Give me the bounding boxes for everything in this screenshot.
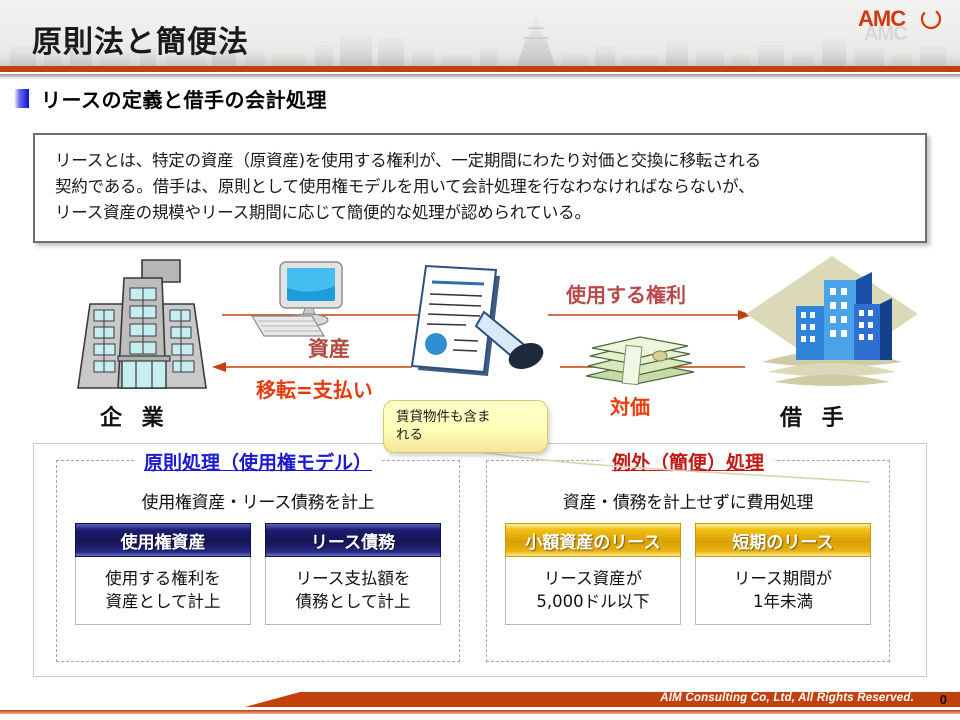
exception-cards: 小額資産のリース リース資産が 5,000ドル以下 短期のリース リース期間が … — [505, 523, 871, 625]
card-short-term-lease: 短期のリース リース期間が 1年未満 — [695, 523, 871, 625]
footer-accent-rule — [0, 710, 960, 714]
blue-square-bullet-icon — [14, 89, 29, 108]
card-body-right-of-use-asset: 使用する権利を 資産として計上 — [75, 557, 251, 625]
card-body-line-1: リース支払額を — [296, 568, 411, 590]
page-title: 原則法と簡便法 — [32, 17, 249, 61]
card-body-line-2: 1年未満 — [753, 591, 813, 613]
panel-subtitle-principle: 使用権資産・リース債務を計上 — [57, 488, 459, 513]
slide-footer: AIM Consulting Co, Ltd, All Rights Reser… — [0, 692, 960, 720]
flow-label-asset: 資産 — [308, 333, 350, 363]
cash-bundle-icon — [580, 332, 700, 394]
callout-line-2: れる — [396, 426, 547, 444]
header-accent-bar — [0, 66, 960, 72]
footer-page-number: 0 — [940, 692, 947, 707]
svg-text:AMC: AMC — [864, 23, 907, 44]
contract-signing-icon — [396, 252, 556, 402]
callout-bubble: 賃貸物件も含ま れる — [383, 400, 548, 453]
card-body-low-value-asset-lease: リース資産が 5,000ドル以下 — [505, 557, 681, 625]
amc-logo-icon: AMC AMC — [856, 4, 948, 44]
card-head-right-of-use-asset: 使用権資産 — [75, 523, 251, 557]
section-heading-label: リースの定義と借手の会計処理 — [41, 84, 327, 113]
definition-box: リースとは、特定の資産（原資産)を使用する権利が、一定期間にわたり対価と交換に移… — [33, 133, 927, 243]
callout-line-1: 賃貸物件も含ま — [396, 408, 547, 426]
definition-line-2: 契約である。借手は、原則として使用権モデルを用いて会計処理を行なわなければならな… — [55, 174, 907, 200]
footer-copyright: AIM Consulting Co, Ltd, All Rights Reser… — [660, 692, 914, 704]
card-low-value-asset-lease: 小額資産のリース リース資産が 5,000ドル以下 — [505, 523, 681, 625]
card-body-line-2: 資産として計上 — [105, 591, 220, 613]
card-head-short-term-lease: 短期のリース — [695, 523, 871, 557]
card-body-short-term-lease: リース期間が 1年未満 — [695, 557, 871, 625]
card-body-line-2: 債務として計上 — [295, 591, 410, 613]
card-head-low-value-asset-lease: 小額資産のリース — [505, 523, 681, 557]
card-body-line-1: 使用する権利を — [105, 568, 221, 590]
card-right-of-use-asset: 使用権資産 使用する権利を 資産として計上 — [75, 523, 251, 625]
definition-line-1: リースとは、特定の資産（原資産)を使用する権利が、一定期間にわたり対価と交換に移… — [55, 148, 907, 174]
flow-label-transfer-payment: 移転=支払い — [256, 374, 373, 403]
flow-label-right-of-use: 使用する権利 — [566, 279, 686, 308]
card-body-line-1: リース期間が — [734, 568, 832, 590]
card-lease-liability: リース債務 リース支払額を 債務として計上 — [265, 523, 441, 625]
card-body-lease-liability: リース支払額を 債務として計上 — [265, 557, 441, 625]
panel-principle-treatment: 原則処理（使用権モデル） 使用権資産・リース債務を計上 使用権資産 使用する権利… — [56, 460, 460, 662]
card-head-lease-liability: リース債務 — [265, 523, 441, 557]
node-label-lessee: 借 手 — [780, 400, 850, 432]
city-buildings-icon — [742, 250, 922, 402]
flow-label-consideration: 対価 — [610, 391, 650, 420]
card-body-line-2: 5,000ドル以下 — [536, 591, 649, 613]
office-building-icon — [62, 256, 222, 396]
node-label-lessor: 企 業 — [100, 400, 170, 432]
header-divider-lower — [0, 77, 960, 79]
slide-header: 原則法と簡便法 AMC AMC — [0, 0, 960, 70]
panel-title-principle: 原則処理（使用権モデル） — [134, 448, 382, 475]
section-heading: リースの定義と借手の会計処理 — [14, 84, 327, 113]
card-body-line-1: リース資産が — [544, 568, 642, 590]
definition-line-3: リース資産の規模やリース期間に応じて簡便的な処理が認められている。 — [55, 200, 907, 226]
principle-cards: 使用権資産 使用する権利を 資産として計上 リース債務 リース支払額を 債務とし… — [75, 523, 441, 625]
